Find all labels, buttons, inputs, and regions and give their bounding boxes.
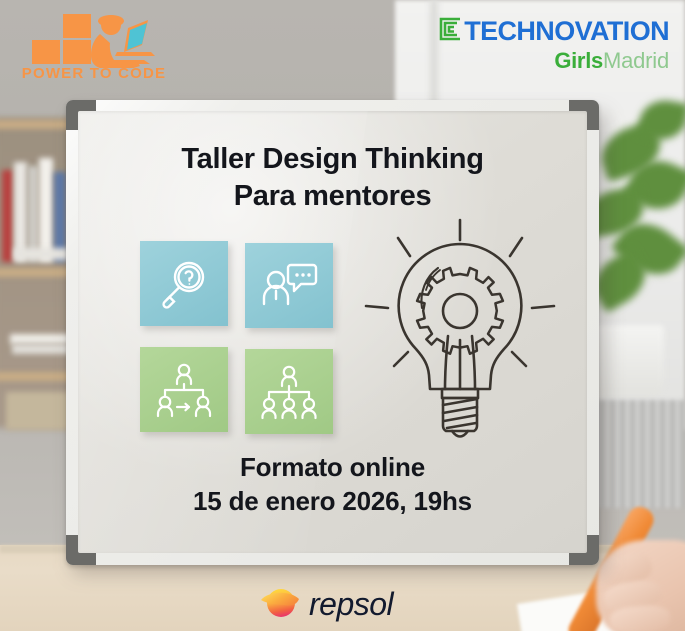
book (14, 162, 27, 262)
storage-box (6, 392, 72, 430)
person-speech-bubble-icon (260, 259, 318, 313)
workshop-title: Taller Design Thinking Para mentores (78, 141, 587, 214)
sticky-note-magnifier (140, 241, 228, 326)
power-to-code-label: POWER TO CODE (14, 65, 174, 82)
repsol-wordmark: repsol (309, 588, 393, 620)
girls-madrid-row: GirlsMadrid (435, 50, 669, 72)
book (2, 170, 13, 262)
sticky-notes-group (140, 241, 340, 447)
girls-word: Girls (554, 48, 603, 73)
org-chart-three-icon (258, 364, 320, 420)
repsol-sphere-icon (258, 582, 302, 627)
magnifier-question-icon (156, 256, 212, 312)
book-stack (14, 248, 69, 260)
sticky-note-interview (245, 243, 333, 328)
event-details: Formato online 15 de enero 2026, 19hs (78, 451, 587, 519)
footer-line-2: 15 de enero 2026, 19hs (78, 485, 587, 519)
title-line-1: Taller Design Thinking (78, 141, 587, 178)
technovation-wordmark-row: TECHNOVATION (435, 16, 669, 47)
sticky-note-ideate (140, 347, 228, 432)
repsol-logo: repsol (258, 583, 433, 625)
technovation-word: TECHNOVATION (464, 18, 669, 45)
org-chart-arrow-icon (153, 362, 215, 418)
technovation-nested-square-icon (438, 16, 462, 47)
power-to-code-logo: POWER TO CODE (14, 8, 174, 90)
book-stack (12, 344, 70, 354)
footer-line-1: Formato online (78, 451, 587, 485)
whiteboard-surface: Taller Design Thinking Para mentores (78, 111, 587, 553)
lightbulb-gear-idea-icon (360, 216, 560, 461)
book-stack (10, 334, 72, 344)
poster-image: Taller Design Thinking Para mentores (0, 0, 685, 631)
whiteboard: Taller Design Thinking Para mentores (66, 100, 599, 565)
title-line-2: Para mentores (78, 178, 587, 215)
sticky-note-team (245, 349, 333, 434)
madrid-word: Madrid (603, 48, 669, 73)
technovation-girls-madrid-logo: TECHNOVATION GirlsMadrid (435, 16, 669, 78)
book (39, 158, 53, 262)
